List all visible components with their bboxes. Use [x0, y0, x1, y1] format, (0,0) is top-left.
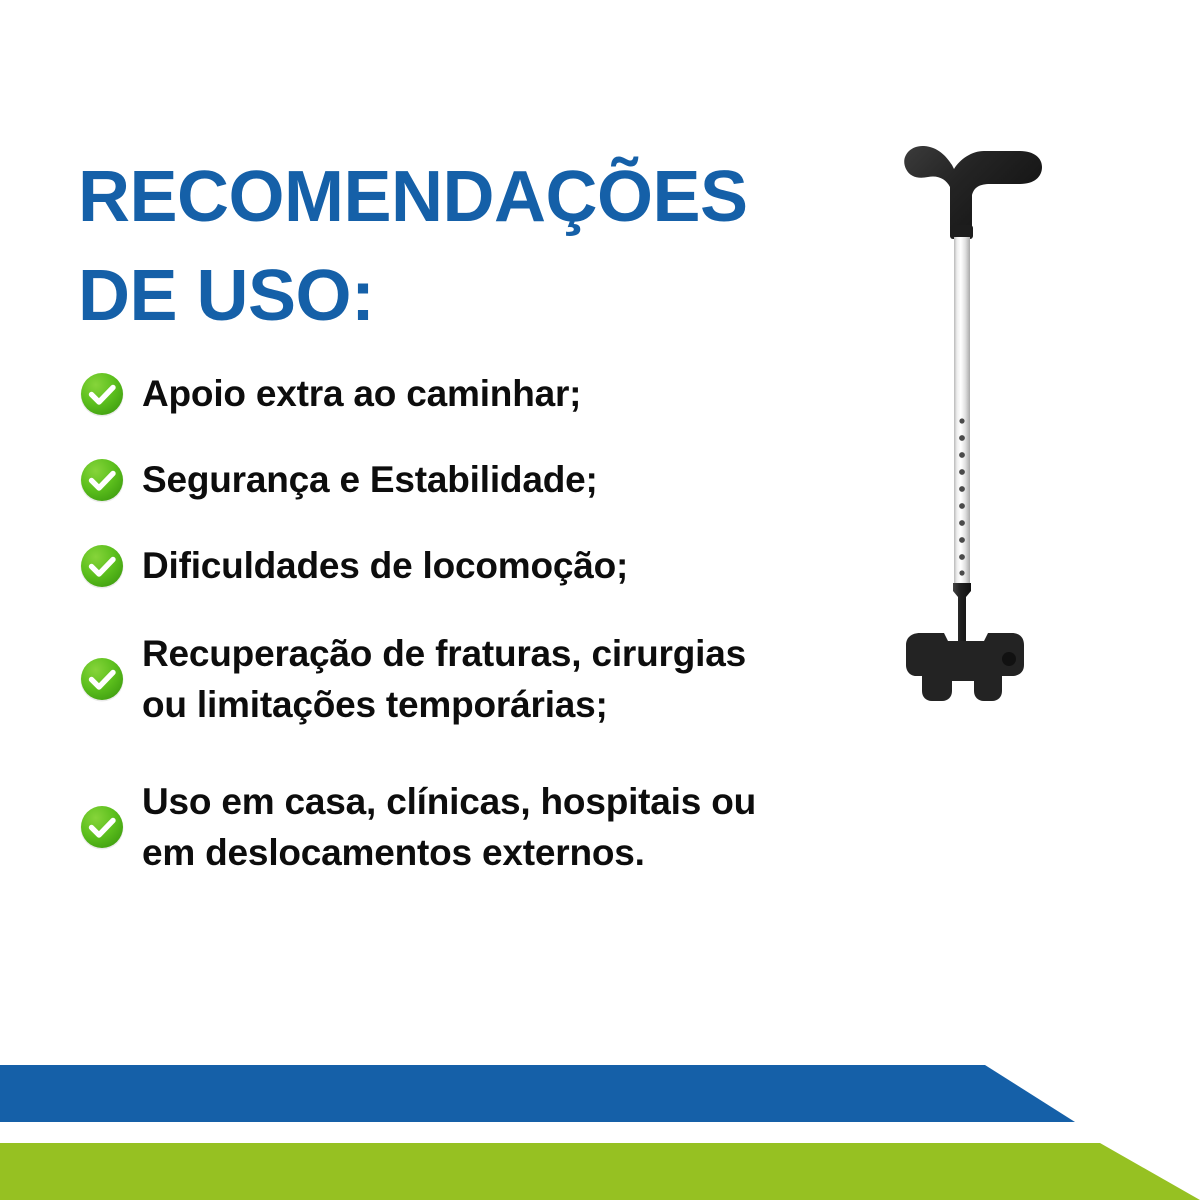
title-line-1: RECOMENDAÇÕES [78, 148, 798, 247]
list-item-label: Recuperação de fraturas, cirurgias ou li… [142, 628, 746, 730]
poster-canvas: RECOMENDAÇÕES DE USO: [0, 0, 1200, 1200]
green-check-circle-icon [78, 803, 126, 851]
list-item: Segurança e Estabilidade; [78, 456, 898, 504]
list-item-label: Apoio extra ao caminhar; [142, 370, 581, 418]
green-check-circle-icon [78, 370, 126, 418]
list-item-label: Segurança e Estabilidade; [142, 456, 598, 504]
list-item: Recuperação de fraturas, cirurgias ou li… [78, 628, 898, 730]
list-item-line: Segurança e Estabilidade; [142, 459, 598, 500]
list-item-line: Apoio extra ao caminhar; [142, 373, 581, 414]
cane-quad-base [906, 633, 1024, 701]
list-item-line: Dificuldades de locomoção; [142, 545, 628, 586]
green-check-circle-icon [78, 655, 126, 703]
list-item: Uso em casa, clínicas, hospitais ou em d… [78, 776, 898, 878]
list-item: Apoio extra ao caminhar; [78, 370, 898, 418]
footer-accent-bars [0, 1050, 1200, 1200]
title-line-2: DE USO: [78, 247, 798, 346]
list-item-line: Uso em casa, clínicas, hospitais ou [142, 781, 756, 822]
list-item-label: Dificuldades de locomoção; [142, 542, 628, 590]
green-accent-bar [0, 1143, 1200, 1200]
list-item-line: ou limitações temporárias; [142, 684, 608, 725]
blue-accent-bar [0, 1065, 1075, 1122]
list-item: Dificuldades de locomoção; [78, 542, 898, 590]
quad-cane-photo [880, 125, 1090, 705]
list-item-line: Recuperação de fraturas, cirurgias [142, 633, 746, 674]
list-item-line: em deslocamentos externos. [142, 832, 645, 873]
green-check-circle-icon [78, 456, 126, 504]
page-title: RECOMENDAÇÕES DE USO: [78, 148, 798, 347]
cane-handle-shape [904, 146, 1042, 239]
recommendations-list: Apoio extra ao caminhar; Segurança e Est… [78, 370, 898, 924]
list-item-label: Uso em casa, clínicas, hospitais ou em d… [142, 776, 756, 878]
green-check-circle-icon [78, 542, 126, 590]
